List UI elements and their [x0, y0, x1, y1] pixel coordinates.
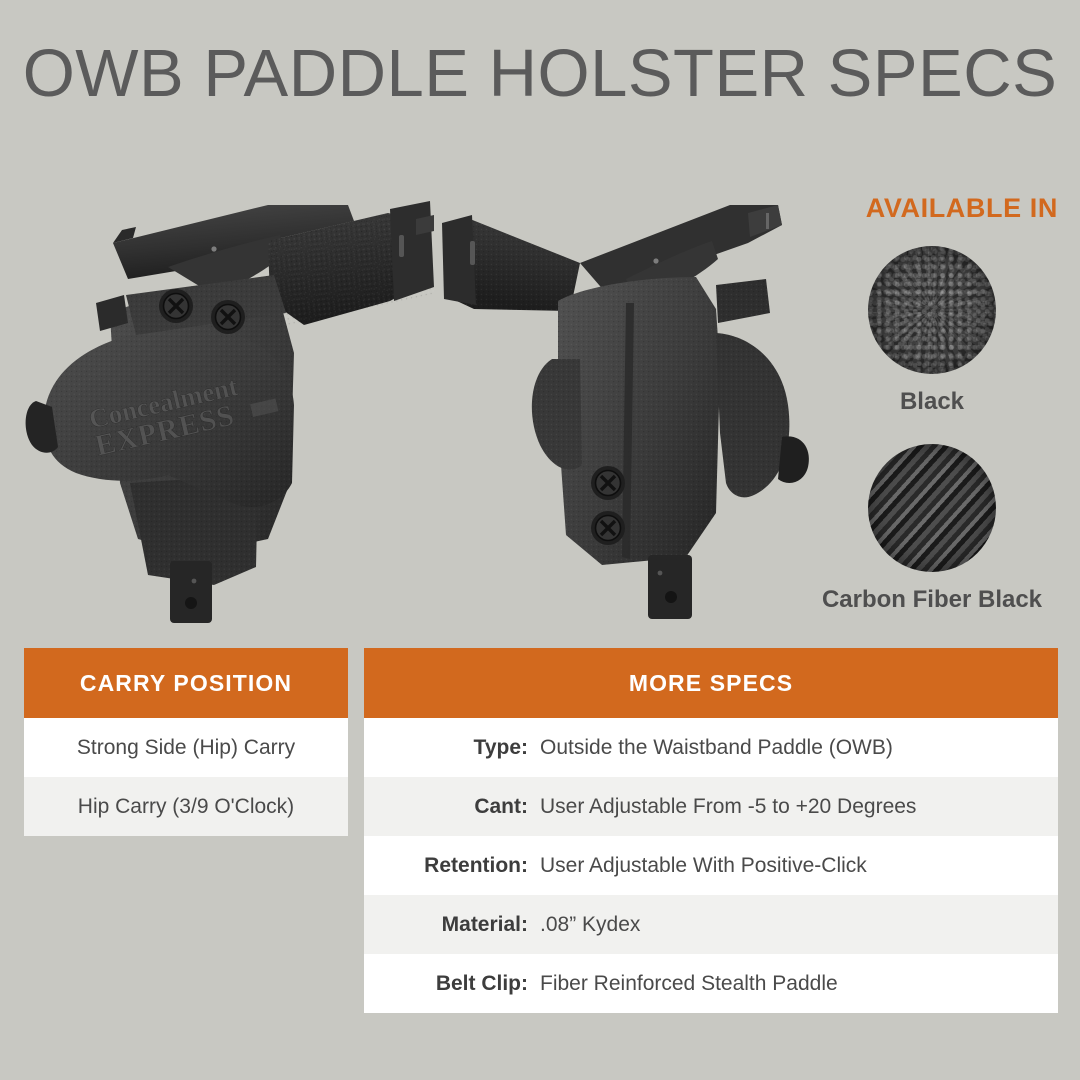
owb-paddle-holster-rear-view-icon — [430, 183, 850, 633]
more-specs-table: MORE SPECS Type: Outside the Waistband P… — [364, 648, 1058, 1013]
adjustment-screw — [591, 511, 625, 545]
carry-position-value: Hip Carry (3/9 O'Clock) — [78, 795, 294, 819]
table-row: Material: .08” Kydex — [364, 895, 1058, 954]
spec-value: User Adjustable With Positive-Click — [540, 854, 867, 878]
spec-value: .08” Kydex — [540, 913, 640, 937]
table-row: Belt Clip: Fiber Reinforced Stealth Padd… — [364, 954, 1058, 1013]
table-row: Strong Side (Hip) Carry — [24, 718, 348, 777]
spec-label: Retention: — [388, 854, 540, 878]
product-image-gallery: Concealment EXPRESS — [0, 175, 790, 635]
table-row: Cant: User Adjustable From -5 to +20 Deg… — [364, 777, 1058, 836]
swatch-carbon-fiber[interactable]: Carbon Fiber Black — [868, 444, 996, 614]
swatch-label: Black — [868, 388, 996, 416]
adjustment-screw — [159, 289, 193, 323]
spec-label: Cant: — [388, 795, 540, 819]
adjustment-screw — [591, 466, 625, 500]
table-row: Retention: User Adjustable With Positive… — [364, 836, 1058, 895]
swatch-black[interactable]: Black — [868, 246, 996, 416]
adjustment-screw — [211, 300, 245, 334]
owb-paddle-holster-front-view-icon: Concealment EXPRESS — [18, 183, 438, 633]
swatch-label: Carbon Fiber Black — [808, 586, 1056, 614]
carry-position-value: Strong Side (Hip) Carry — [77, 736, 295, 760]
spec-value: User Adjustable From -5 to +20 Degrees — [540, 795, 916, 819]
page-title: OWB PADDLE HOLSTER SPECS — [0, 44, 1080, 104]
available-in-heading: AVAILABLE IN — [638, 193, 1058, 224]
spec-value: Outside the Waistband Paddle (OWB) — [540, 736, 893, 760]
black-kydex-texture-swatch-icon — [868, 246, 996, 374]
spec-label: Material: — [388, 913, 540, 937]
table-row: Type: Outside the Waistband Paddle (OWB) — [364, 718, 1058, 777]
carbon-fiber-texture-swatch-icon — [868, 444, 996, 572]
spec-label: Type: — [388, 736, 540, 760]
more-specs-header: MORE SPECS — [364, 648, 1058, 718]
spec-label: Belt Clip: — [388, 972, 540, 996]
carry-position-header: CARRY POSITION — [24, 648, 348, 718]
spec-value: Fiber Reinforced Stealth Paddle — [540, 972, 838, 996]
table-row: Hip Carry (3/9 O'Clock) — [24, 777, 348, 836]
carry-position-table: CARRY POSITION Strong Side (Hip) Carry H… — [24, 648, 348, 836]
